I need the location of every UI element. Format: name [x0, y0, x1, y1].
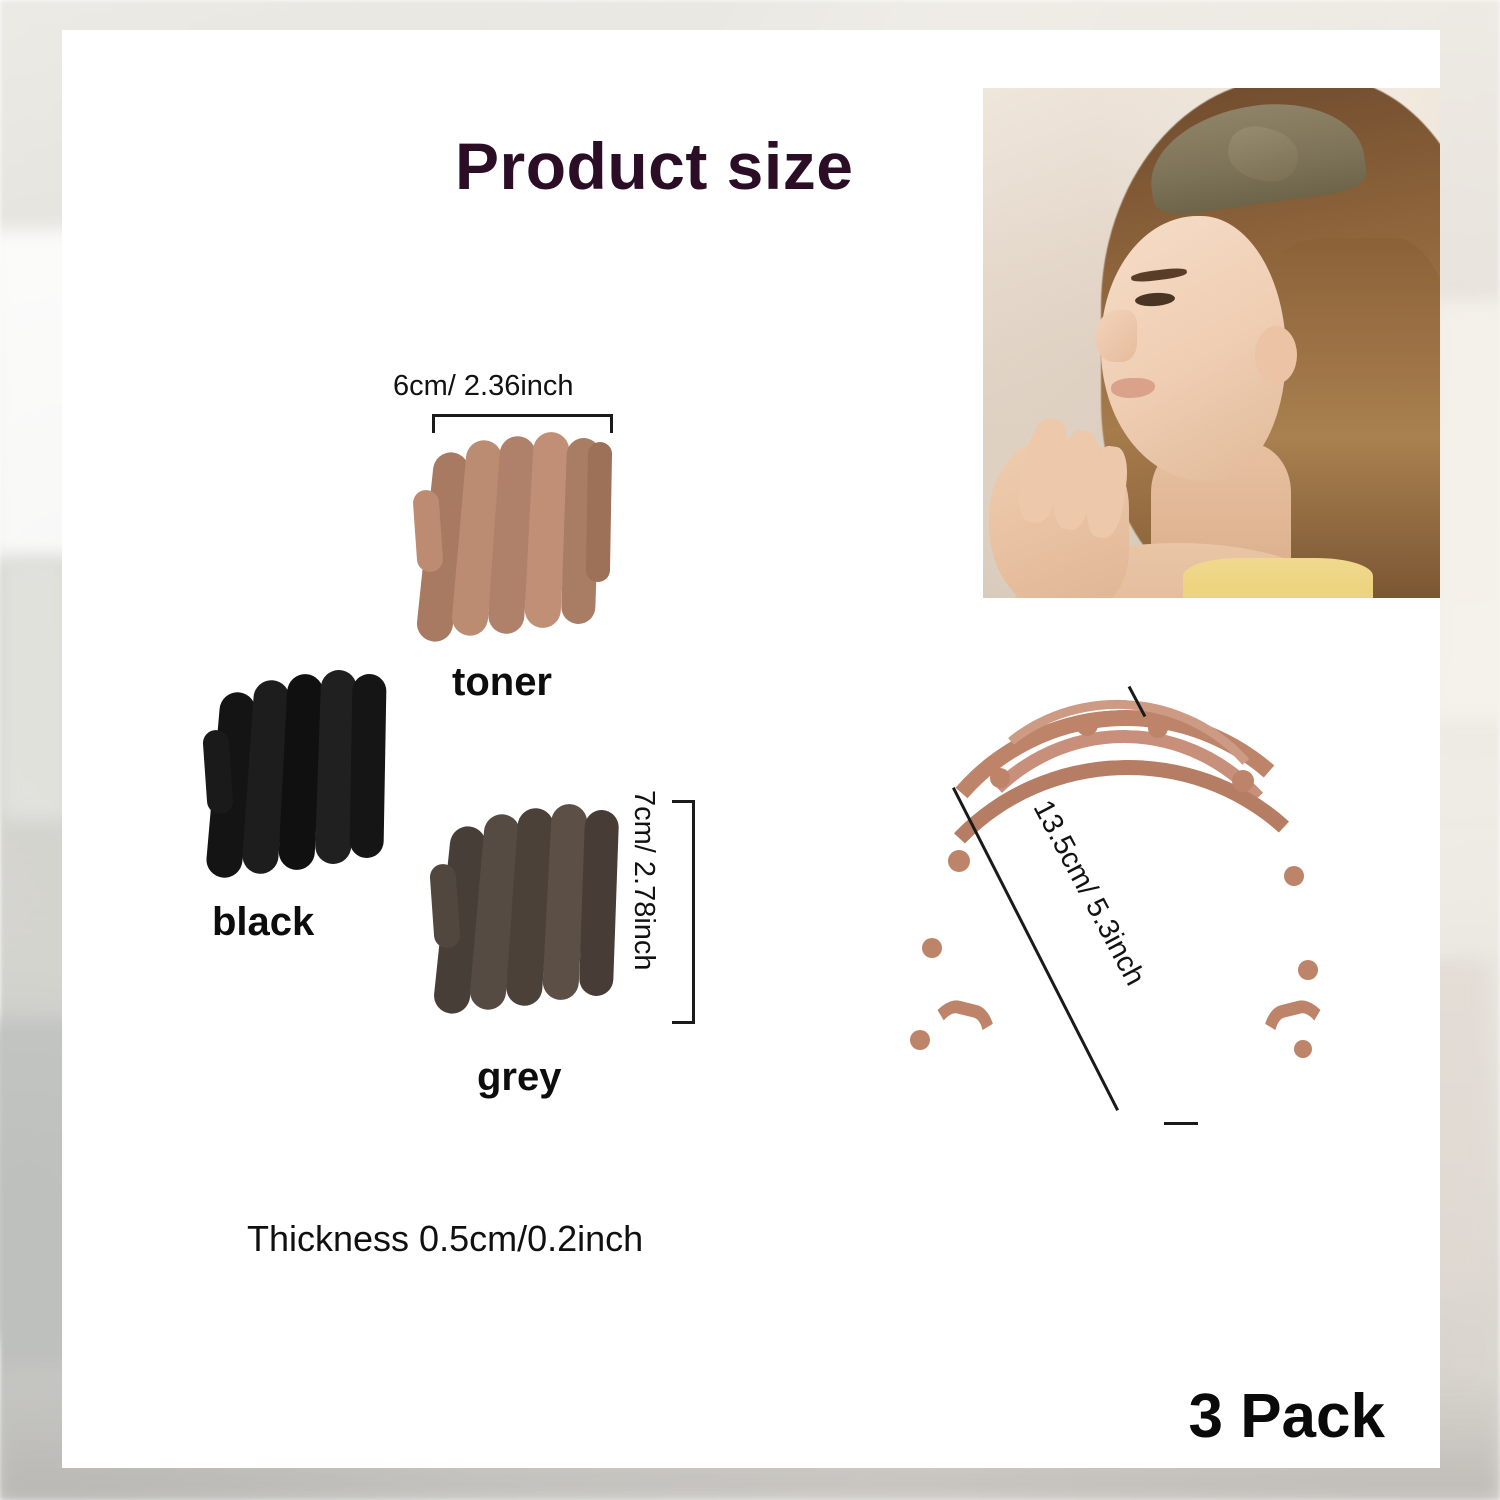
headband-dimension-tick [1164, 1122, 1198, 1125]
thickness-label: Thickness 0.5cm/0.2inch [247, 1218, 643, 1260]
pack-count-label: 3 Pack [1188, 1381, 1385, 1452]
variant-label-black: black [212, 900, 314, 945]
width-dimension-label: 6cm/ 2.36inch [393, 370, 574, 403]
model-clothing [1183, 558, 1373, 598]
width-bracket [432, 414, 613, 433]
page-title: Product size [455, 128, 853, 204]
variant-label-grey: grey [477, 1055, 562, 1100]
height-bracket [672, 800, 695, 1024]
background-shape [0, 560, 70, 820]
clip-stack-toner [415, 432, 625, 647]
variant-label-toner: toner [452, 660, 552, 705]
model-ear [1255, 326, 1297, 384]
height-dimension-label: 7cm/ 2.78inch [627, 790, 660, 1030]
product-infographic: Product size 6cm/ 2.36inch toner [0, 0, 1500, 1500]
model-nose [1095, 310, 1137, 362]
clip-stack-black [205, 668, 405, 883]
model-photo [983, 88, 1440, 598]
clip-stack-grey [432, 800, 637, 1020]
background-shape [1430, 300, 1500, 720]
